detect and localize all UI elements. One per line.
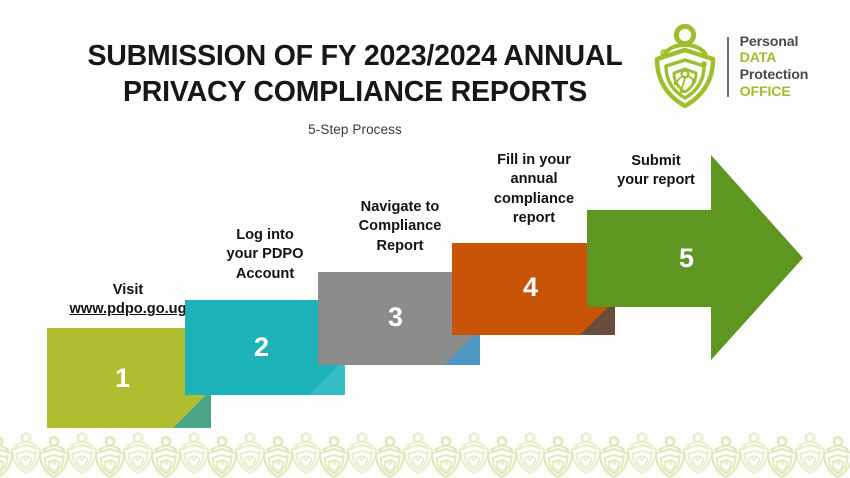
step-4-number: 4 — [523, 274, 538, 301]
process-steps: 1 Visit www.pdpo.go.ug 2 Log into your P… — [0, 0, 850, 440]
step-2-number: 2 — [254, 334, 269, 361]
process-step-5[interactable]: 5 Submit your report — [587, 155, 803, 360]
step-1-fold — [173, 390, 211, 428]
infographic-slide: SUBMISSION OF FY 2023/2024 ANNUAL PRIVAC… — [0, 0, 850, 478]
bottom-decorative-border — [0, 426, 850, 478]
step-5-number: 5 — [679, 245, 694, 272]
step-5-label-line-2: your report — [586, 171, 726, 190]
step-5-label-line-1: Submit — [586, 152, 726, 171]
step-5-label: Submit your report — [586, 152, 726, 191]
step-3-number: 3 — [388, 304, 403, 331]
pdpo-shield-pattern-icon — [0, 426, 850, 478]
step-1-number: 1 — [115, 365, 130, 392]
